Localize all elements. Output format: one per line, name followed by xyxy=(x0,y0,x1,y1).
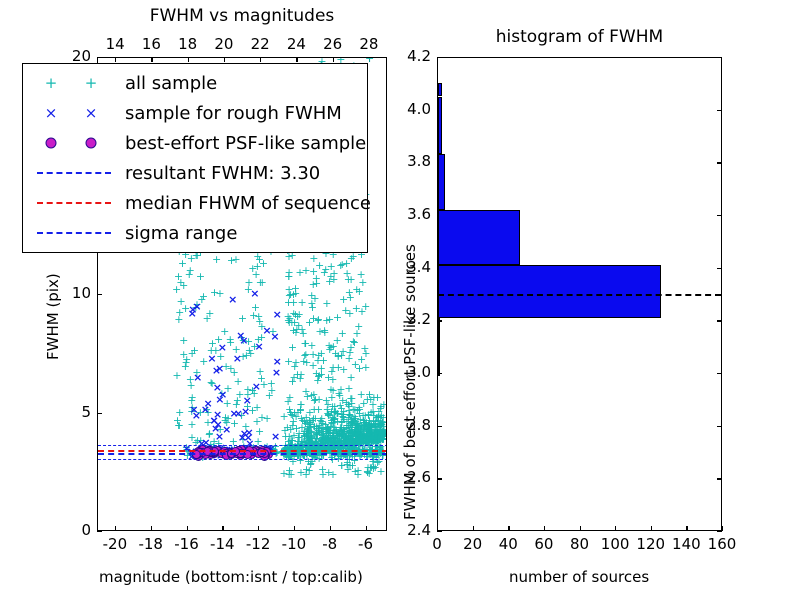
all-sample-point: + xyxy=(325,278,334,286)
all-sample-point: + xyxy=(361,432,370,440)
all-sample-point: + xyxy=(310,397,319,405)
all-sample-point: + xyxy=(377,432,386,440)
all-sample-point: + xyxy=(315,372,324,380)
circle-marker-icon xyxy=(86,138,97,149)
all-sample-point: + xyxy=(371,429,380,437)
all-sample-point: + xyxy=(350,413,359,421)
all-sample-point: + xyxy=(324,412,333,420)
all-sample-point: + xyxy=(312,429,321,437)
all-sample-point: + xyxy=(376,434,385,442)
all-sample-point: + xyxy=(293,371,302,379)
all-sample-point: + xyxy=(175,422,184,430)
all-sample-point: + xyxy=(363,435,372,443)
all-sample-point: + xyxy=(343,433,352,441)
all-sample-point: + xyxy=(297,415,306,423)
all-sample-point: + xyxy=(310,435,319,443)
all-sample-point: + xyxy=(335,392,344,400)
all-sample-point: + xyxy=(376,429,385,437)
all-sample-point: + xyxy=(341,436,350,444)
all-sample-point: + xyxy=(375,421,384,429)
all-sample-point: + xyxy=(259,260,268,268)
all-sample-point: + xyxy=(357,431,366,439)
all-sample-point: + xyxy=(360,422,369,430)
all-sample-point: + xyxy=(312,370,321,378)
all-sample-point: + xyxy=(371,436,380,444)
all-sample-point: + xyxy=(379,401,386,409)
cross-marker-icon: × xyxy=(85,104,98,122)
all-sample-point: + xyxy=(374,420,383,428)
all-sample-point: + xyxy=(175,309,184,317)
all-sample-point: + xyxy=(369,429,378,437)
all-sample-point: + xyxy=(315,429,324,437)
all-sample-point: + xyxy=(357,308,366,316)
all-sample-point: + xyxy=(286,471,295,479)
all-sample-point: + xyxy=(181,359,190,367)
hist-x-tick-label: 100 xyxy=(598,535,632,553)
all-sample-point: + xyxy=(342,399,351,407)
all-sample-point: + xyxy=(344,440,353,448)
all-sample-point: + xyxy=(305,421,314,429)
all-sample-point: + xyxy=(368,437,377,445)
all-sample-point: + xyxy=(374,426,383,434)
all-sample-point: + xyxy=(192,369,201,377)
all-sample-point: + xyxy=(374,408,383,416)
all-sample-point: + xyxy=(193,437,202,445)
all-sample-point: + xyxy=(351,420,360,428)
all-sample-point: + xyxy=(365,391,374,399)
legend-item-4[interactable]: median FHWM of sequence xyxy=(29,188,361,218)
all-sample-point: + xyxy=(364,425,373,433)
all-sample-point: + xyxy=(353,433,362,441)
hist-median-line xyxy=(438,294,721,296)
all-sample-point: + xyxy=(292,326,301,334)
all-sample-point: + xyxy=(295,442,304,450)
all-sample-point: + xyxy=(345,424,354,432)
all-sample-point: + xyxy=(378,433,386,441)
all-sample-point: + xyxy=(267,380,276,388)
all-sample-point: + xyxy=(354,440,363,448)
all-sample-point: + xyxy=(351,361,360,369)
all-sample-point: + xyxy=(363,436,372,444)
all-sample-point: + xyxy=(347,436,356,444)
all-sample-point: + xyxy=(245,347,254,355)
hist-y-tick-label: 3.6 xyxy=(393,205,431,223)
all-sample-point: + xyxy=(293,442,302,450)
all-sample-point: + xyxy=(205,310,214,318)
all-sample-point: + xyxy=(356,435,365,443)
rough-sample-point: × xyxy=(207,355,216,363)
all-sample-point: + xyxy=(181,305,190,313)
all-sample-point: + xyxy=(363,437,372,445)
histogram-bar xyxy=(438,97,442,155)
all-sample-point: + xyxy=(369,427,378,435)
all-sample-point: + xyxy=(324,411,333,419)
all-sample-point: + xyxy=(377,435,386,443)
dashed-line-icon xyxy=(37,202,111,204)
all-sample-point: + xyxy=(377,435,386,443)
all-sample-point: + xyxy=(322,300,331,308)
all-sample-point: + xyxy=(362,431,371,439)
all-sample-point: + xyxy=(317,437,326,445)
all-sample-point: + xyxy=(356,431,365,439)
all-sample-point: + xyxy=(249,312,258,320)
all-sample-point: + xyxy=(371,423,380,431)
all-sample-point: + xyxy=(378,429,386,437)
all-sample-point: + xyxy=(351,439,360,447)
all-sample-point: + xyxy=(232,401,241,409)
all-sample-point: + xyxy=(366,430,375,438)
all-sample-point: + xyxy=(376,420,385,428)
all-sample-point: + xyxy=(373,427,382,435)
all-sample-point: + xyxy=(372,430,381,438)
all-sample-point: + xyxy=(342,436,351,444)
all-sample-point: + xyxy=(317,418,326,426)
all-sample-point: + xyxy=(174,422,183,430)
x-tick-label-top: 18 xyxy=(172,35,204,53)
all-sample-point: + xyxy=(305,467,314,475)
dash-dot-line-icon xyxy=(37,232,111,234)
all-sample-point: + xyxy=(328,430,337,438)
all-sample-point: + xyxy=(379,436,386,444)
rough-sample-point: × xyxy=(188,310,197,318)
all-sample-point: + xyxy=(302,466,311,474)
all-sample-point: + xyxy=(379,430,386,438)
all-sample-point: + xyxy=(342,260,351,268)
all-sample-point: + xyxy=(316,437,325,445)
legend-item-5[interactable]: sigma range xyxy=(29,218,361,248)
all-sample-point: + xyxy=(199,358,208,366)
all-sample-point: + xyxy=(323,430,332,438)
all-sample-point: + xyxy=(310,454,319,462)
all-sample-point: + xyxy=(283,398,292,406)
all-sample-point: + xyxy=(350,339,359,347)
all-sample-point: + xyxy=(323,401,332,409)
legend-item-1[interactable]: ××sample for rough FWHM xyxy=(29,98,361,128)
all-sample-point: + xyxy=(289,291,298,299)
all-sample-point: + xyxy=(295,311,304,319)
all-sample-point: + xyxy=(367,422,376,430)
all-sample-point: + xyxy=(372,428,381,436)
all-sample-point: + xyxy=(364,436,373,444)
all-sample-point: + xyxy=(333,436,342,444)
all-sample-point: + xyxy=(343,424,352,432)
all-sample-point: + xyxy=(318,466,327,474)
histogram-bar-layer xyxy=(438,58,721,530)
all-sample-point: + xyxy=(311,396,320,404)
all-sample-point: + xyxy=(280,413,289,421)
left-panel-title: FWHM vs magnitudes xyxy=(97,6,387,26)
all-sample-point: + xyxy=(357,422,366,430)
all-sample-point: + xyxy=(297,424,306,432)
all-sample-point: + xyxy=(327,437,336,445)
all-sample-point: + xyxy=(353,436,362,444)
all-sample-point: + xyxy=(359,425,368,433)
all-sample-point: + xyxy=(376,426,385,434)
all-sample-point: + xyxy=(371,421,380,429)
all-sample-point: + xyxy=(355,436,364,444)
all-sample-point: + xyxy=(306,435,315,443)
hist-y-tick-label: 4.2 xyxy=(393,47,431,65)
all-sample-point: + xyxy=(313,431,322,439)
all-sample-point: + xyxy=(288,378,297,386)
all-sample-point: + xyxy=(242,352,251,360)
all-sample-point: + xyxy=(327,454,336,462)
all-sample-point: + xyxy=(361,437,370,445)
all-sample-point: + xyxy=(354,429,363,437)
all-sample-point: + xyxy=(373,431,382,439)
all-sample-point: + xyxy=(244,286,253,294)
all-sample-point: + xyxy=(329,427,338,435)
all-sample-point: + xyxy=(285,467,294,475)
all-sample-point: + xyxy=(307,433,316,441)
all-sample-point: + xyxy=(378,431,386,439)
all-sample-point: + xyxy=(357,423,366,431)
all-sample-point: + xyxy=(323,424,332,432)
all-sample-point: + xyxy=(332,428,341,436)
all-sample-point: + xyxy=(375,436,384,444)
x-tick-label-top: 20 xyxy=(208,35,240,53)
all-sample-point: + xyxy=(354,423,363,431)
all-sample-point: + xyxy=(285,286,294,294)
all-sample-point: + xyxy=(333,430,342,438)
all-sample-point: + xyxy=(239,337,248,345)
all-sample-point: + xyxy=(238,315,247,323)
all-sample-point: + xyxy=(356,427,365,435)
all-sample-point: + xyxy=(319,430,328,438)
legend-item-2[interactable]: best-effort PSF-like sample xyxy=(29,128,361,158)
rough-sample-point: × xyxy=(211,425,220,433)
x-tick-label-top: 26 xyxy=(317,35,349,53)
all-sample-point: + xyxy=(293,409,302,417)
all-sample-point: + xyxy=(197,296,206,304)
all-sample-point: + xyxy=(353,407,362,415)
all-sample-point: + xyxy=(285,292,294,300)
rough-sample-point: × xyxy=(245,440,254,448)
all-sample-point: + xyxy=(344,422,353,430)
all-sample-point: + xyxy=(327,417,336,425)
all-sample-point: + xyxy=(374,437,383,445)
resultant-fwhm-line xyxy=(98,453,386,455)
all-sample-point: + xyxy=(301,267,310,275)
all-sample-point: + xyxy=(232,346,241,354)
all-sample-point: + xyxy=(196,409,205,417)
all-sample-point: + xyxy=(341,307,350,315)
plus-marker-icon: + xyxy=(45,74,58,92)
all-sample-point: + xyxy=(365,429,374,437)
all-sample-point: + xyxy=(373,437,382,445)
rough-sample-point: × xyxy=(240,430,249,438)
all-sample-point: + xyxy=(354,434,363,442)
all-sample-point: + xyxy=(295,269,304,277)
all-sample-point: + xyxy=(352,430,361,438)
legend-item-3[interactable]: resultant FWHM: 3.30 xyxy=(29,158,361,188)
all-sample-point: + xyxy=(326,435,335,443)
all-sample-point: + xyxy=(227,257,236,265)
all-sample-point: + xyxy=(379,426,386,434)
rough-sample-point: × xyxy=(271,433,280,441)
all-sample-point: + xyxy=(367,430,376,438)
all-sample-point: + xyxy=(366,435,375,443)
all-sample-point: + xyxy=(347,374,356,382)
all-sample-point: + xyxy=(362,437,371,445)
all-sample-point: + xyxy=(336,386,345,394)
rough-sample-point: × xyxy=(270,333,279,341)
all-sample-point: + xyxy=(378,430,386,438)
all-sample-point: + xyxy=(306,421,315,429)
all-sample-point: + xyxy=(187,408,196,416)
all-sample-point: + xyxy=(329,434,338,442)
rough-sample-point: × xyxy=(192,412,201,420)
all-sample-point: + xyxy=(187,434,196,442)
all-sample-point: + xyxy=(179,337,188,345)
all-sample-point: + xyxy=(302,359,311,367)
all-sample-point: + xyxy=(193,252,202,260)
all-sample-point: + xyxy=(299,330,308,338)
all-sample-point: + xyxy=(363,469,372,477)
all-sample-point: + xyxy=(343,466,352,474)
all-sample-point: + xyxy=(371,430,380,438)
all-sample-point: + xyxy=(290,363,299,371)
all-sample-point: + xyxy=(328,376,337,384)
all-sample-point: + xyxy=(315,422,324,430)
all-sample-point: + xyxy=(334,353,343,361)
all-sample-point: + xyxy=(369,433,378,441)
all-sample-point: + xyxy=(357,271,366,279)
all-sample-point: + xyxy=(309,315,318,323)
all-sample-point: + xyxy=(223,400,232,408)
all-sample-point: + xyxy=(351,426,360,434)
all-sample-point: + xyxy=(345,429,354,437)
all-sample-point: + xyxy=(327,394,336,402)
all-sample-point: + xyxy=(310,406,319,414)
all-sample-point: + xyxy=(303,425,312,433)
all-sample-point: + xyxy=(369,465,378,473)
all-sample-point: + xyxy=(341,435,350,443)
all-sample-point: + xyxy=(333,410,342,418)
all-sample-point: + xyxy=(344,437,353,445)
all-sample-point: + xyxy=(246,350,255,358)
all-sample-point: + xyxy=(304,430,313,438)
all-sample-point: + xyxy=(289,432,298,440)
all-sample-point: + xyxy=(368,408,377,416)
all-sample-point: + xyxy=(352,422,361,430)
rough-sample-point: × xyxy=(241,408,250,416)
all-sample-point: + xyxy=(339,366,348,374)
all-sample-point: + xyxy=(285,394,294,402)
histogram-bar xyxy=(438,265,661,318)
all-sample-point: + xyxy=(365,429,374,437)
all-sample-point: + xyxy=(324,469,333,477)
all-sample-point: + xyxy=(308,417,317,425)
all-sample-point: + xyxy=(355,430,364,438)
all-sample-point: + xyxy=(360,432,369,440)
all-sample-point: + xyxy=(340,428,349,436)
all-sample-point: + xyxy=(376,426,385,434)
rough-sample-point: × xyxy=(201,406,210,414)
all-sample-point: + xyxy=(356,432,365,440)
all-sample-point: + xyxy=(352,420,361,428)
all-sample-point: + xyxy=(366,409,375,417)
rough-sample-point: × xyxy=(214,421,223,429)
circle-marker-icon xyxy=(46,138,57,149)
all-sample-point: + xyxy=(265,392,274,400)
all-sample-point: + xyxy=(187,382,196,390)
all-sample-point: + xyxy=(345,289,354,297)
all-sample-point: + xyxy=(304,427,313,435)
all-sample-point: + xyxy=(308,304,317,312)
all-sample-point: + xyxy=(298,299,307,307)
histogram-bar xyxy=(438,318,440,376)
all-sample-point: + xyxy=(373,434,382,442)
all-sample-point: + xyxy=(373,394,382,402)
all-sample-point: + xyxy=(301,340,310,348)
legend-item-label: best-effort PSF-like sample xyxy=(125,133,366,154)
all-sample-point: + xyxy=(367,422,376,430)
all-sample-point: + xyxy=(289,374,298,382)
all-sample-point: + xyxy=(314,316,323,324)
all-sample-point: + xyxy=(307,435,316,443)
all-sample-point: + xyxy=(369,418,378,426)
all-sample-point: + xyxy=(356,430,365,438)
all-sample-point: + xyxy=(288,412,297,420)
all-sample-point: + xyxy=(187,421,196,429)
all-sample-point: + xyxy=(337,411,346,419)
all-sample-point: + xyxy=(377,433,386,441)
all-sample-point: + xyxy=(323,437,332,445)
all-sample-point: + xyxy=(377,420,386,428)
all-sample-point: + xyxy=(334,440,343,448)
all-sample-point: + xyxy=(345,427,354,435)
all-sample-point: + xyxy=(262,415,271,423)
rough-sample-point: × xyxy=(244,434,253,442)
all-sample-point: + xyxy=(363,436,372,444)
all-sample-point: + xyxy=(342,434,351,442)
rough-sample-point: × xyxy=(234,410,243,418)
all-sample-point: + xyxy=(285,433,294,441)
x-tick-label-bottom: -20 xyxy=(99,535,131,553)
hist-y-tick-label: 4.0 xyxy=(393,100,431,118)
all-sample-point: + xyxy=(334,432,343,440)
all-sample-point: + xyxy=(329,435,338,443)
all-sample-point: + xyxy=(342,422,351,430)
rough-sample-point: × xyxy=(252,383,261,391)
histogram-bar xyxy=(438,154,445,209)
all-sample-point: + xyxy=(302,430,311,438)
all-sample-point: + xyxy=(357,434,366,442)
all-sample-point: + xyxy=(373,430,382,438)
all-sample-point: + xyxy=(367,434,376,442)
all-sample-point: + xyxy=(328,403,337,411)
all-sample-point: + xyxy=(368,401,377,409)
all-sample-point: + xyxy=(207,347,216,355)
all-sample-point: + xyxy=(357,391,366,399)
all-sample-point: + xyxy=(323,406,332,414)
all-sample-point: + xyxy=(301,351,310,359)
all-sample-point: + xyxy=(373,429,382,437)
all-sample-point: + xyxy=(367,433,376,441)
y-tick-label: 10 xyxy=(63,284,91,302)
all-sample-point: + xyxy=(354,435,363,443)
rough-sample-point: × xyxy=(273,358,282,366)
all-sample-point: + xyxy=(211,347,220,355)
all-sample-point: + xyxy=(378,427,386,435)
all-sample-point: + xyxy=(289,327,298,335)
all-sample-point: + xyxy=(337,437,346,445)
all-sample-point: + xyxy=(360,424,369,432)
x-tick-label-top: 24 xyxy=(280,35,312,53)
legend-item-0[interactable]: ++all sample xyxy=(29,68,361,98)
all-sample-point: + xyxy=(377,418,386,426)
